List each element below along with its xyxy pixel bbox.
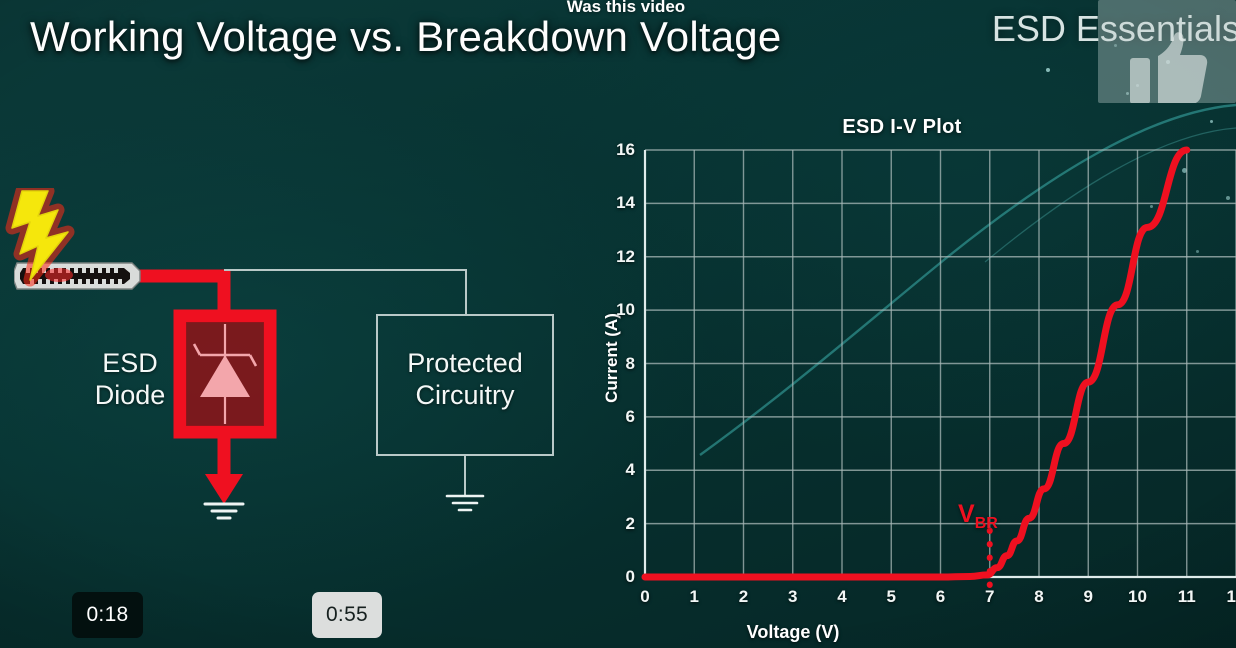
ground-icon <box>447 496 483 510</box>
chart-plot-svg <box>578 108 1236 648</box>
x-tick-label: 5 <box>887 587 896 607</box>
x-tick-label: 12 <box>1227 587 1236 607</box>
x-tick-label: 1 <box>690 587 699 607</box>
esd-diode-label: ESD Diode <box>78 348 182 412</box>
x-tick-label: 2 <box>739 587 748 607</box>
x-tick-label: 11 <box>1178 587 1196 607</box>
survey-question-text: Was this video <box>8 0 1236 17</box>
y-tick-label: 2 <box>601 514 635 534</box>
x-tick-label: 6 <box>936 587 945 607</box>
signal-wire <box>224 270 466 315</box>
y-tick-label: 12 <box>601 247 635 267</box>
vbr-label: V <box>958 500 975 528</box>
y-tick-label: 4 <box>601 460 635 480</box>
x-tick-label: 0 <box>640 587 649 607</box>
current-direction-arrow <box>205 474 243 504</box>
y-tick-label: 8 <box>601 354 635 374</box>
ground-icon <box>205 504 243 518</box>
thumbs-up-icon[interactable] <box>1130 30 1208 103</box>
circuit-diagram: ESD Diode Protected Circuitry <box>0 178 590 548</box>
timestamp-badge-current[interactable]: 0:18 <box>72 592 143 638</box>
page-title: Working Voltage vs. Breakdown Voltage <box>30 13 781 61</box>
breakdown-voltage-annotation: VBR <box>958 500 998 533</box>
esd-iv-chart: ESD I-V Plot Current (A) Voltage (V) 012… <box>578 108 1236 648</box>
x-tick-label: 10 <box>1128 587 1147 607</box>
x-tick-label: 7 <box>985 587 994 607</box>
esd-diode-label-line1: ESD <box>78 348 182 380</box>
esd-diode-label-line2: Diode <box>78 380 182 412</box>
timestamp-badge-total[interactable]: 0:55 <box>312 592 382 638</box>
y-tick-label: 14 <box>601 193 635 213</box>
x-tick-label: 9 <box>1084 587 1093 607</box>
x-tick-label: 4 <box>837 587 846 607</box>
protected-circuitry-label-line1: Protected <box>382 348 548 380</box>
x-tick-label: 3 <box>788 587 797 607</box>
y-tick-label: 6 <box>601 407 635 427</box>
protected-circuitry-label: Protected Circuitry <box>382 348 548 412</box>
y-tick-label: 0 <box>601 567 635 587</box>
vbr-sublabel: BR <box>975 515 998 532</box>
chart-x-axis-label: Voltage (V) <box>578 622 1008 643</box>
lightning-bolt-icon <box>4 188 78 288</box>
y-tick-label: 10 <box>601 300 635 320</box>
y-tick-label: 16 <box>601 140 635 160</box>
x-tick-label: 8 <box>1034 587 1043 607</box>
protected-circuitry-label-line2: Circuitry <box>382 380 548 412</box>
